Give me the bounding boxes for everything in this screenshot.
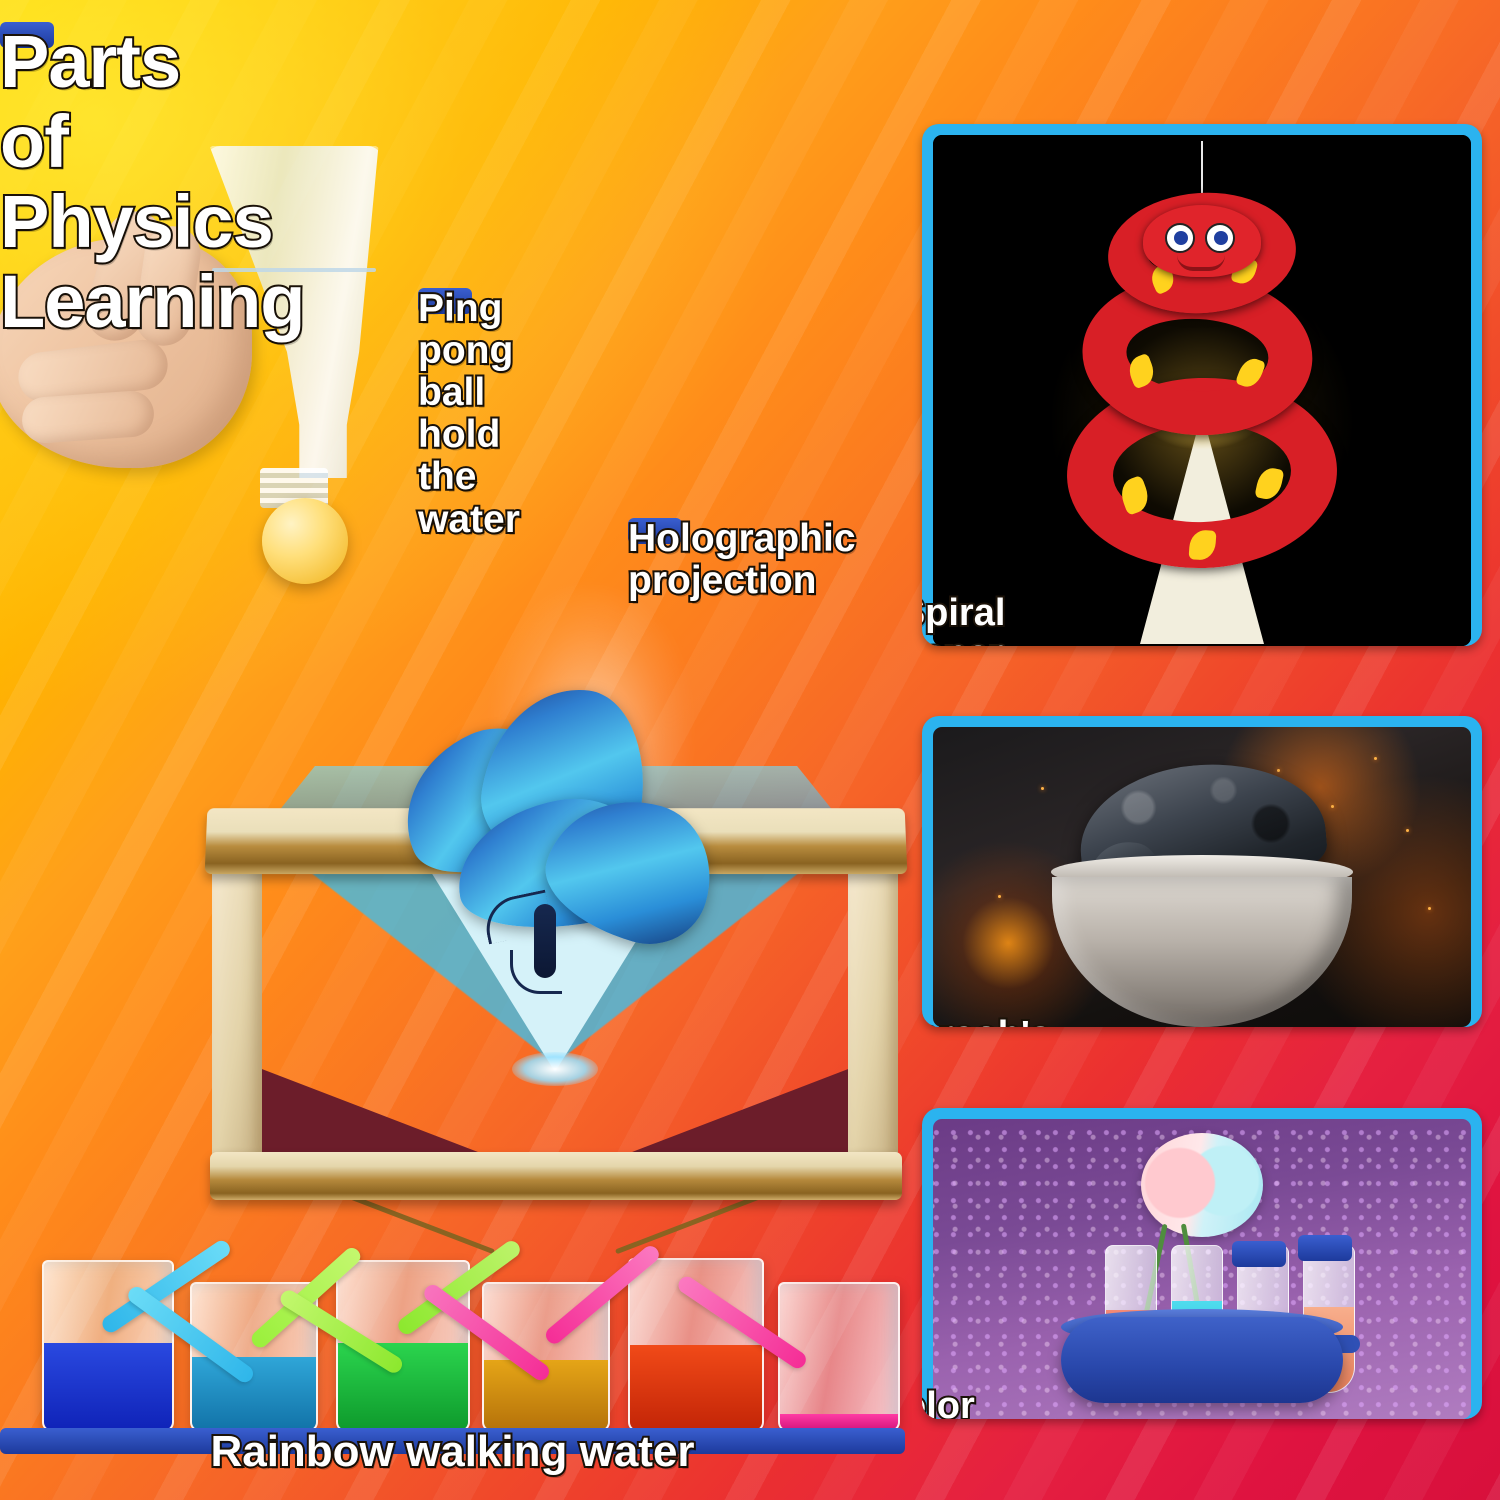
test-tube-rack — [1061, 1317, 1343, 1403]
tube-cap-3 — [1232, 1241, 1286, 1267]
spark — [1428, 907, 1431, 910]
finger-ring — [21, 389, 156, 444]
liquid-green — [338, 1343, 468, 1430]
snake-head — [1143, 205, 1261, 277]
panel-spiral-candle[interactable]: Spiral paper with candle — [922, 124, 1482, 646]
leg-front — [510, 950, 562, 994]
label-holographic: Holographic projection — [628, 518, 682, 544]
two-tone-rose — [1141, 1133, 1263, 1237]
tube-cap-4 — [1298, 1235, 1352, 1261]
hologram-projector-illustration — [196, 760, 914, 1200]
mirror-panel-right — [606, 1066, 856, 1162]
frame-bottom-rail — [210, 1152, 902, 1200]
panel-pharaoh-snake[interactable]: Pharaoh's snake — [922, 716, 1482, 1027]
butterfly-hologram — [392, 682, 722, 1002]
liquid-teal — [192, 1357, 316, 1430]
spark — [1374, 757, 1377, 760]
spark — [998, 895, 1001, 898]
frame-leg-left — [212, 864, 262, 1160]
panel-pharaoh-image — [933, 727, 1471, 1027]
spark — [1277, 769, 1280, 772]
page-title: Parts of Physics Learning — [0, 22, 54, 48]
flame-mark — [1254, 466, 1284, 502]
ping-pong-ball — [262, 498, 348, 584]
spiral-scene — [933, 135, 1471, 646]
snake-smile — [1177, 255, 1225, 271]
flame-mark — [1235, 355, 1266, 391]
liquid-blue — [44, 1343, 172, 1430]
flame-mark — [1117, 475, 1153, 516]
panel-spiral-image — [933, 135, 1471, 646]
spark — [1331, 805, 1334, 808]
frame-leg-right — [848, 864, 898, 1160]
snake-eye-right — [1205, 223, 1235, 253]
rainbow-walking-water-illustration — [18, 1236, 898, 1432]
label-ping-pong: Ping pong ball hold the water — [418, 288, 472, 314]
panel-flowers-image — [933, 1119, 1471, 1419]
snake-eye-left — [1165, 223, 1195, 253]
mirror-panel-left — [254, 1066, 504, 1162]
spark — [1041, 787, 1044, 790]
spark — [1406, 829, 1409, 832]
liquid-red — [630, 1345, 762, 1430]
flame-mark — [1125, 353, 1158, 390]
panel-color-flowers[interactable]: Color changing flowers — [922, 1108, 1482, 1419]
hologram-beam-core — [512, 1052, 598, 1086]
flame-mark — [1188, 529, 1216, 561]
label-rainbow-walking-water: Rainbow walking water — [0, 1428, 905, 1454]
